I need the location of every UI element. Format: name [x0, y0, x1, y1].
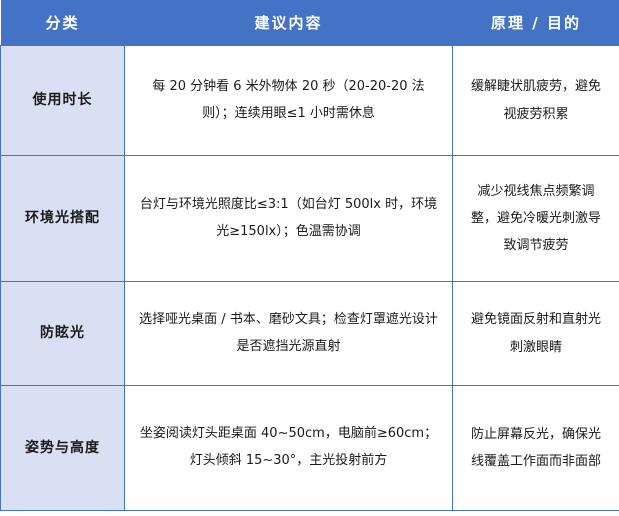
cell-content: 选择哑光桌面 / 书本、磨砂文具；检查灯罩遮光设计是否遮挡光源直射 — [125, 282, 453, 386]
table-row: 环境光搭配 台灯与环境光照度比≤3:1（如台灯 500lx 时，环境光≥150l… — [1, 156, 619, 282]
table-row: 使用时长 每 20 分钟看 6 米外物体 20 秒（20-20-20 法则）；连… — [1, 46, 619, 156]
cell-category: 环境光搭配 — [1, 156, 125, 282]
cell-category: 姿势与高度 — [1, 386, 125, 511]
column-header-rationale: 原理 / 目的 — [453, 0, 619, 46]
table-header-row: 分类 建议内容 原理 / 目的 — [1, 0, 619, 46]
cell-content: 每 20 分钟看 6 米外物体 20 秒（20-20-20 法则）；连续用眼≤1… — [125, 46, 453, 156]
cell-rationale: 防止屏幕反光，确保光线覆盖工作面而非面部 — [453, 386, 619, 511]
cell-content: 坐姿阅读灯头距桌面 40~50cm，电脑前≥60cm；灯头倾斜 15~30°，主… — [125, 386, 453, 511]
table-row: 姿势与高度 坐姿阅读灯头距桌面 40~50cm，电脑前≥60cm；灯头倾斜 15… — [1, 386, 619, 511]
advice-table: 分类 建议内容 原理 / 目的 使用时长 每 20 分钟看 6 米外物体 20 … — [0, 0, 619, 511]
cell-rationale: 减少视线焦点频繁调整，避免冷暖光刺激导致调节疲劳 — [453, 156, 619, 282]
column-header-category: 分类 — [1, 0, 125, 46]
table-body: 使用时长 每 20 分钟看 6 米外物体 20 秒（20-20-20 法则）；连… — [1, 46, 619, 511]
cell-category: 使用时长 — [1, 46, 125, 156]
cell-category: 防眩光 — [1, 282, 125, 386]
advice-table-container: 分类 建议内容 原理 / 目的 使用时长 每 20 分钟看 6 米外物体 20 … — [0, 0, 619, 516]
cell-content: 台灯与环境光照度比≤3:1（如台灯 500lx 时，环境光≥150lx）；色温需… — [125, 156, 453, 282]
cell-rationale: 避免镜面反射和直射光刺激眼睛 — [453, 282, 619, 386]
table-header: 分类 建议内容 原理 / 目的 — [1, 0, 619, 46]
column-header-content: 建议内容 — [125, 0, 453, 46]
table-row: 防眩光 选择哑光桌面 / 书本、磨砂文具；检查灯罩遮光设计是否遮挡光源直射 避免… — [1, 282, 619, 386]
cell-rationale: 缓解睫状肌疲劳，避免视疲劳积累 — [453, 46, 619, 156]
